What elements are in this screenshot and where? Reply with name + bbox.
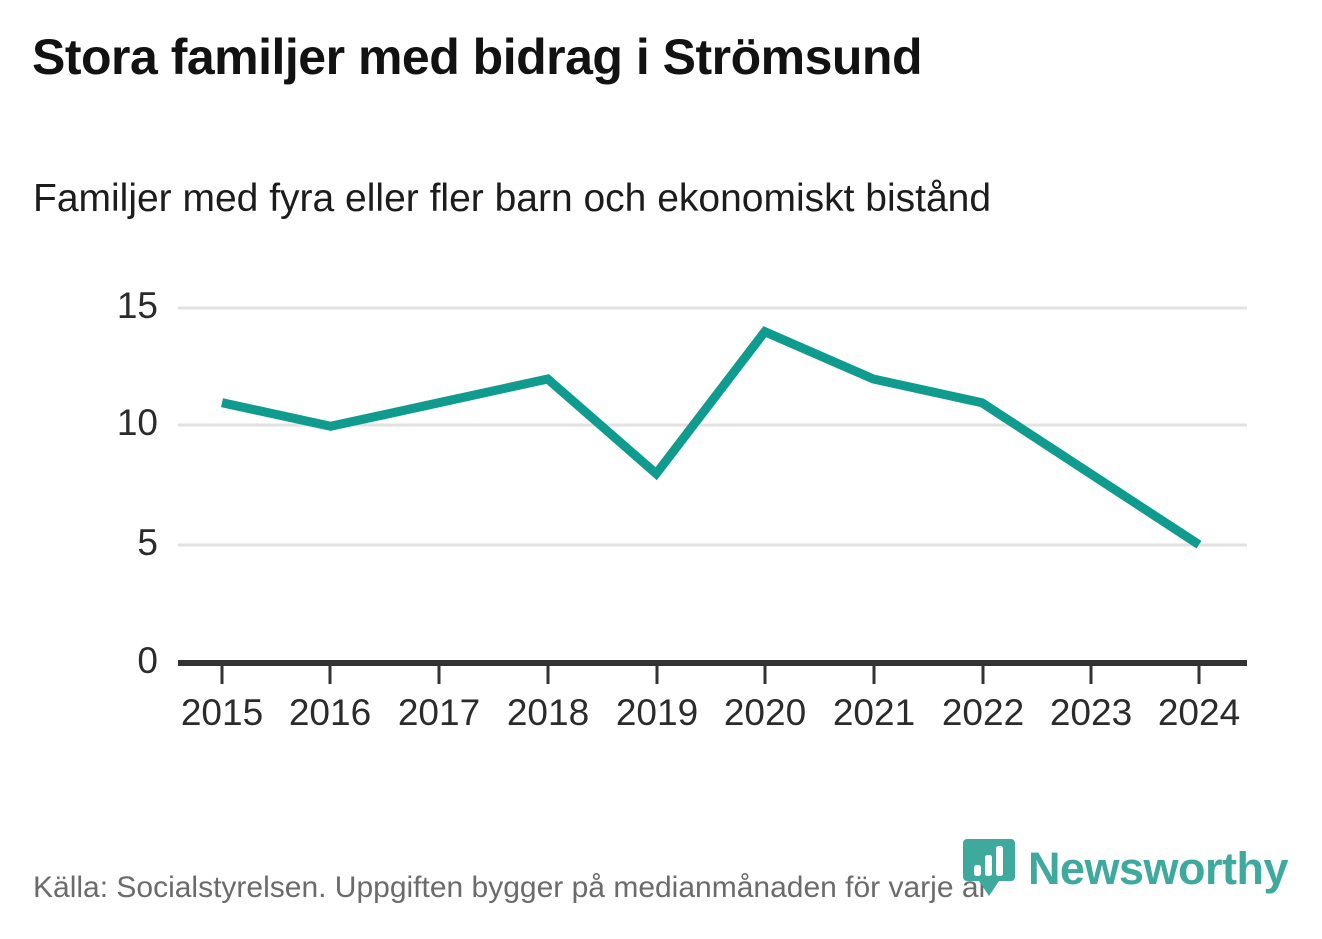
xtick-label-2019: 2019: [616, 692, 698, 733]
xtick-label-2015: 2015: [181, 692, 263, 733]
ytick-label-5: 5: [137, 522, 158, 563]
ytick-label-0: 0: [137, 640, 158, 681]
ytick-label-10: 10: [117, 402, 158, 443]
xtick-label-2022: 2022: [942, 692, 1024, 733]
chart-footer: Källa: Socialstyrelsen. Uppgiften bygger…: [0, 819, 1322, 939]
brand-wordmark: Newsworthy: [1028, 846, 1288, 891]
xtick-label-2021: 2021: [833, 692, 915, 733]
chart-plot-area: 15 10 5 0 2015 2016 2017: [0, 0, 1322, 800]
data-series-line: [222, 332, 1199, 545]
xtick-label-2020: 2020: [724, 692, 806, 733]
x-axis-tick-labels: 2015 2016 2017 2018 2019 2020 2021 2022 …: [181, 692, 1240, 733]
source-note: Källa: Socialstyrelsen. Uppgiften bygger…: [33, 871, 989, 905]
xtick-label-2023: 2023: [1050, 692, 1132, 733]
xtick-label-2017: 2017: [398, 692, 480, 733]
y-axis-tick-labels: 15 10 5 0: [117, 285, 158, 681]
x-axis-tick-marks: [222, 666, 1199, 684]
ytick-label-15: 15: [117, 285, 158, 326]
newsworthy-pin-icon: [961, 837, 1017, 899]
xtick-label-2024: 2024: [1158, 692, 1240, 733]
xtick-label-2018: 2018: [507, 692, 589, 733]
newsworthy-logo: Newsworthy: [961, 837, 1288, 899]
xtick-label-2016: 2016: [289, 692, 371, 733]
chart-page: Stora familjer med bidrag i Strömsund Fa…: [0, 0, 1322, 939]
line-chart-svg: 15 10 5 0 2015 2016 2017: [0, 0, 1322, 800]
